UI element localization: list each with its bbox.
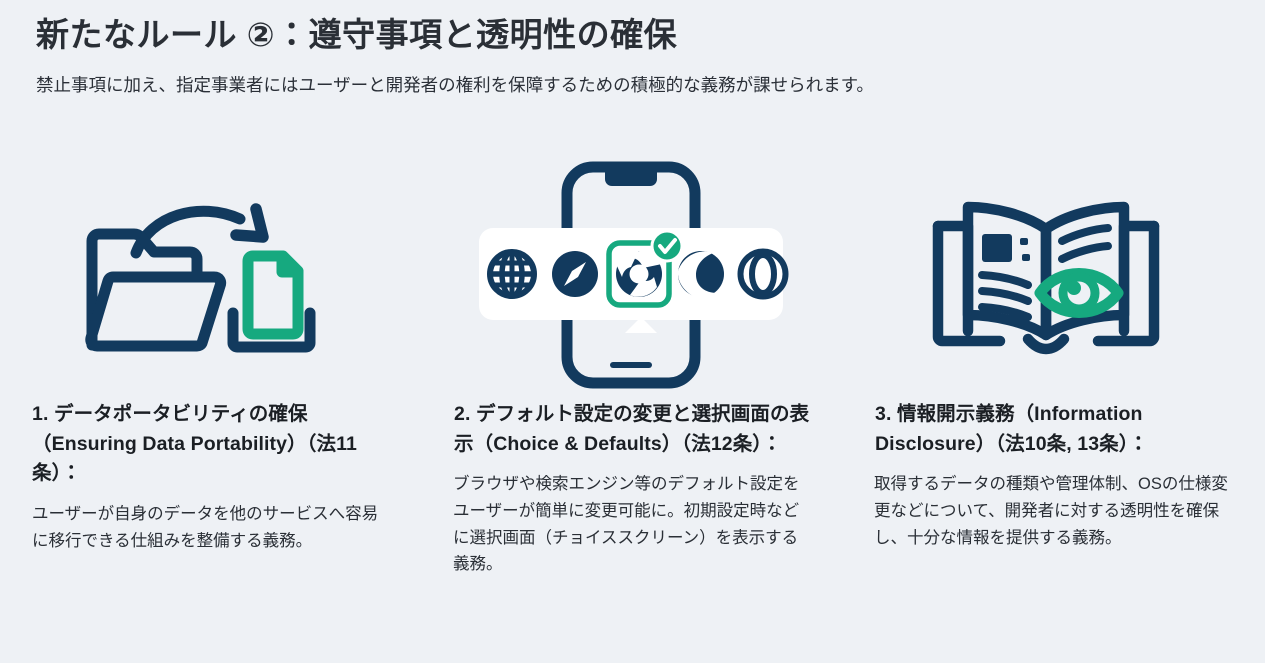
open-book-eye-icon xyxy=(922,189,1184,361)
icon-stage-3 xyxy=(874,150,1231,400)
column-2-heading: 2. デフォルト設定の変更と選択画面の表示（Choice & Defaults）… xyxy=(454,400,811,459)
slide-header: 新たなルール ②：遵守事項と透明性の確保 禁止事項に加え、指定事業者にはユーザー… xyxy=(36,14,1229,98)
column-2-body: ブラウザや検索エンジン等のデフォルト設定をユーザーが簡単に変更可能に。初期設定時… xyxy=(453,471,810,578)
column-data-portability: 1. データポータビリティの確保（Ensuring Data Portabili… xyxy=(0,150,421,554)
column-3-heading: 3. 情報開示義務（Information Disclosure）（法10条, … xyxy=(875,400,1232,459)
columns-container: 1. データポータビリティの確保（Ensuring Data Portabili… xyxy=(0,150,1265,578)
slide-root: 新たなルール ②：遵守事項と透明性の確保 禁止事項に加え、指定事業者にはユーザー… xyxy=(0,0,1265,663)
icon-stage-1 xyxy=(32,150,389,400)
book-text-dots xyxy=(1020,238,1030,261)
globe-browser-icon xyxy=(490,252,534,296)
icon-stage-2 xyxy=(453,150,810,400)
eye-icon xyxy=(1040,274,1118,313)
safari-browser-icon xyxy=(552,251,598,297)
book-text-lines-left xyxy=(982,275,1028,317)
column-information-disclosure: 3. 情報開示義務（Information Disclosure）（法10条, … xyxy=(842,150,1263,551)
book-image-block xyxy=(982,234,1012,262)
column-3-body: 取得するデータの種類や管理体制、OSの仕様変更などについて、開発者に対する透明性… xyxy=(874,471,1231,551)
phone-browser-choice-screen-icon xyxy=(467,155,797,395)
page-title: 新たなルール ②：遵守事項と透明性の確保 xyxy=(36,14,1229,55)
column-1-body: ユーザーが自身のデータを他のサービスへ容易に移行できる仕組みを整備する義務。 xyxy=(32,501,389,554)
column-1-heading: 1. データポータビリティの確保（Ensuring Data Portabili… xyxy=(32,400,389,489)
check-badge-icon xyxy=(652,231,682,261)
book-text-lines-right xyxy=(1062,228,1108,259)
page-subtitle: 禁止事項に加え、指定事業者にはユーザーと開発者の権利を保障するための積極的な義務… xyxy=(36,73,1229,98)
folder-transfer-document-icon xyxy=(80,185,342,365)
column-choice-defaults: 2. デフォルト設定の変更と選択画面の表示（Choice & Defaults）… xyxy=(421,150,842,578)
